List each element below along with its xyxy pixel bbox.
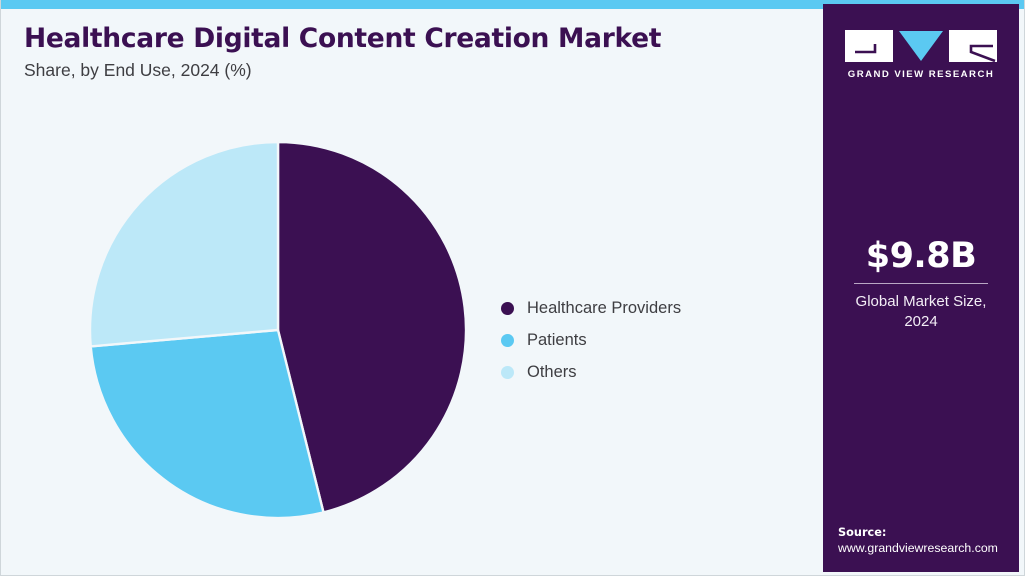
pie-chart-svg: [90, 142, 466, 518]
chart-panel: Healthcare Digital Content Creation Mark…: [1, 9, 823, 575]
legend-swatch-icon: [501, 334, 514, 347]
page-title: Healthcare Digital Content Creation Mark…: [24, 23, 661, 54]
legend-item-healthcare-providers[interactable]: Healthcare Providers: [501, 292, 791, 324]
legend-item-label: Healthcare Providers: [527, 299, 681, 318]
stat-value: $9.8B: [823, 236, 1019, 276]
pie-chart: [90, 142, 466, 518]
source-block: Source: www.grandviewresearch.com: [838, 526, 1018, 555]
brand-wordmark: GRAND VIEW RESEARCH: [823, 69, 1019, 80]
legend-swatch-icon: [501, 302, 514, 315]
gvr-logo-icon: [845, 30, 997, 62]
legend-item-others[interactable]: Others: [501, 356, 791, 388]
source-url[interactable]: www.grandviewresearch.com: [838, 541, 1018, 555]
brand-side-panel: GRAND VIEW RESEARCH $9.8B Global Market …: [823, 4, 1019, 572]
legend-item-patients[interactable]: Patients: [501, 324, 791, 356]
stat-divider: [854, 283, 988, 284]
chart-legend: Healthcare Providers Patients Others: [501, 292, 791, 388]
source-label: Source:: [838, 526, 1018, 539]
legend-item-label: Patients: [527, 331, 587, 350]
legend-swatch-icon: [501, 366, 514, 379]
key-stat: $9.8B Global Market Size, 2024: [823, 236, 1019, 333]
infographic-card: Healthcare Digital Content Creation Mark…: [0, 0, 1025, 576]
page-subtitle: Share, by End Use, 2024 (%): [24, 60, 661, 81]
stat-caption: Global Market Size, 2024: [823, 292, 1019, 333]
legend-item-label: Others: [527, 363, 577, 382]
title-block: Healthcare Digital Content Creation Mark…: [24, 23, 661, 81]
brand-logo[interactable]: GRAND VIEW RESEARCH: [823, 30, 1019, 80]
pie-slice[interactable]: [90, 142, 278, 346]
